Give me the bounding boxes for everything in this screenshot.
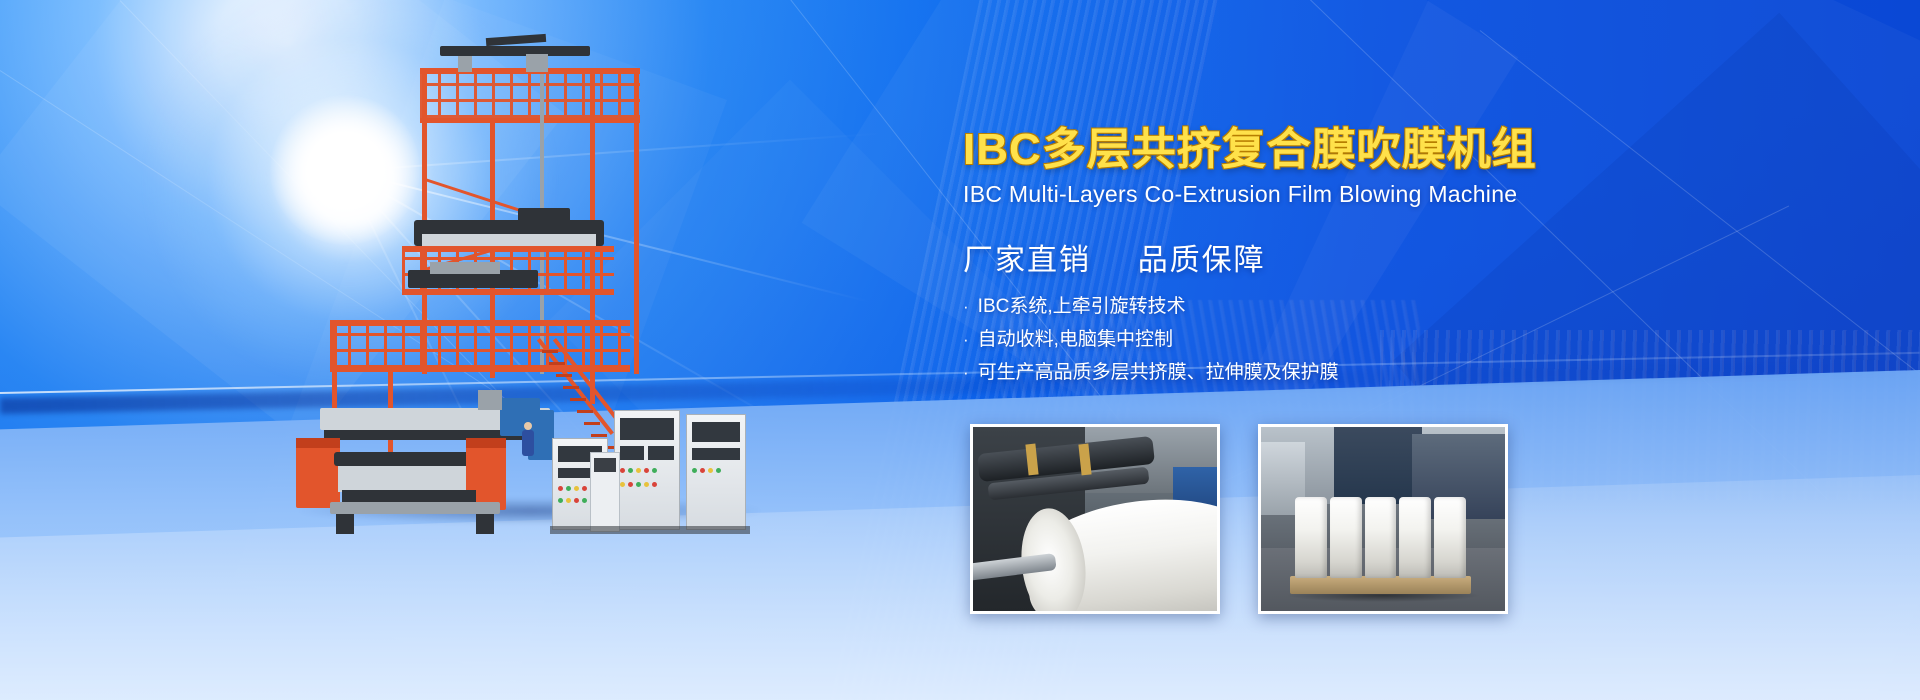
list-item: · 自动收料,电脑集中控制 [963, 330, 1603, 349]
slogan: 厂家直销 品质保障 [963, 235, 1603, 279]
film-roll-photo [970, 424, 1220, 614]
list-item-label: 自动收料,电脑集中控制 [978, 330, 1173, 349]
feature-list: · IBC系统,上牵引旋转技术 · 自动收料,电脑集中控制 · 可生产高品质多层… [963, 297, 1603, 382]
page-subtitle: IBC Multi-Layers Co-Extrusion Film Blowi… [963, 181, 1603, 208]
banner-copy: IBC多层共挤复合膜吹膜机组 IBC Multi-Layers Co-Extru… [963, 128, 1603, 396]
stretch-film-pallet-photo [1258, 424, 1508, 614]
machine-illustration [290, 38, 760, 528]
bullet-dot-icon: · [963, 364, 969, 381]
page-title: IBC多层共挤复合膜吹膜机组 [963, 128, 1603, 172]
slogan-part-1: 厂家直销 [963, 244, 1091, 277]
list-item-label: IBC系统,上牵引旋转技术 [978, 297, 1186, 316]
list-item-label: 可生产高品质多层共挤膜、拉伸膜及保护膜 [978, 363, 1339, 382]
promo-banner: IBC多层共挤复合膜吹膜机组 IBC Multi-Layers Co-Extru… [0, 0, 1920, 700]
list-item: · 可生产高品质多层共挤膜、拉伸膜及保护膜 [963, 363, 1603, 382]
slogan-part-2: 品质保障 [1138, 244, 1266, 277]
bullet-dot-icon: · [963, 298, 969, 315]
list-item: · IBC系统,上牵引旋转技术 [963, 297, 1603, 316]
bullet-dot-icon: · [963, 331, 969, 348]
